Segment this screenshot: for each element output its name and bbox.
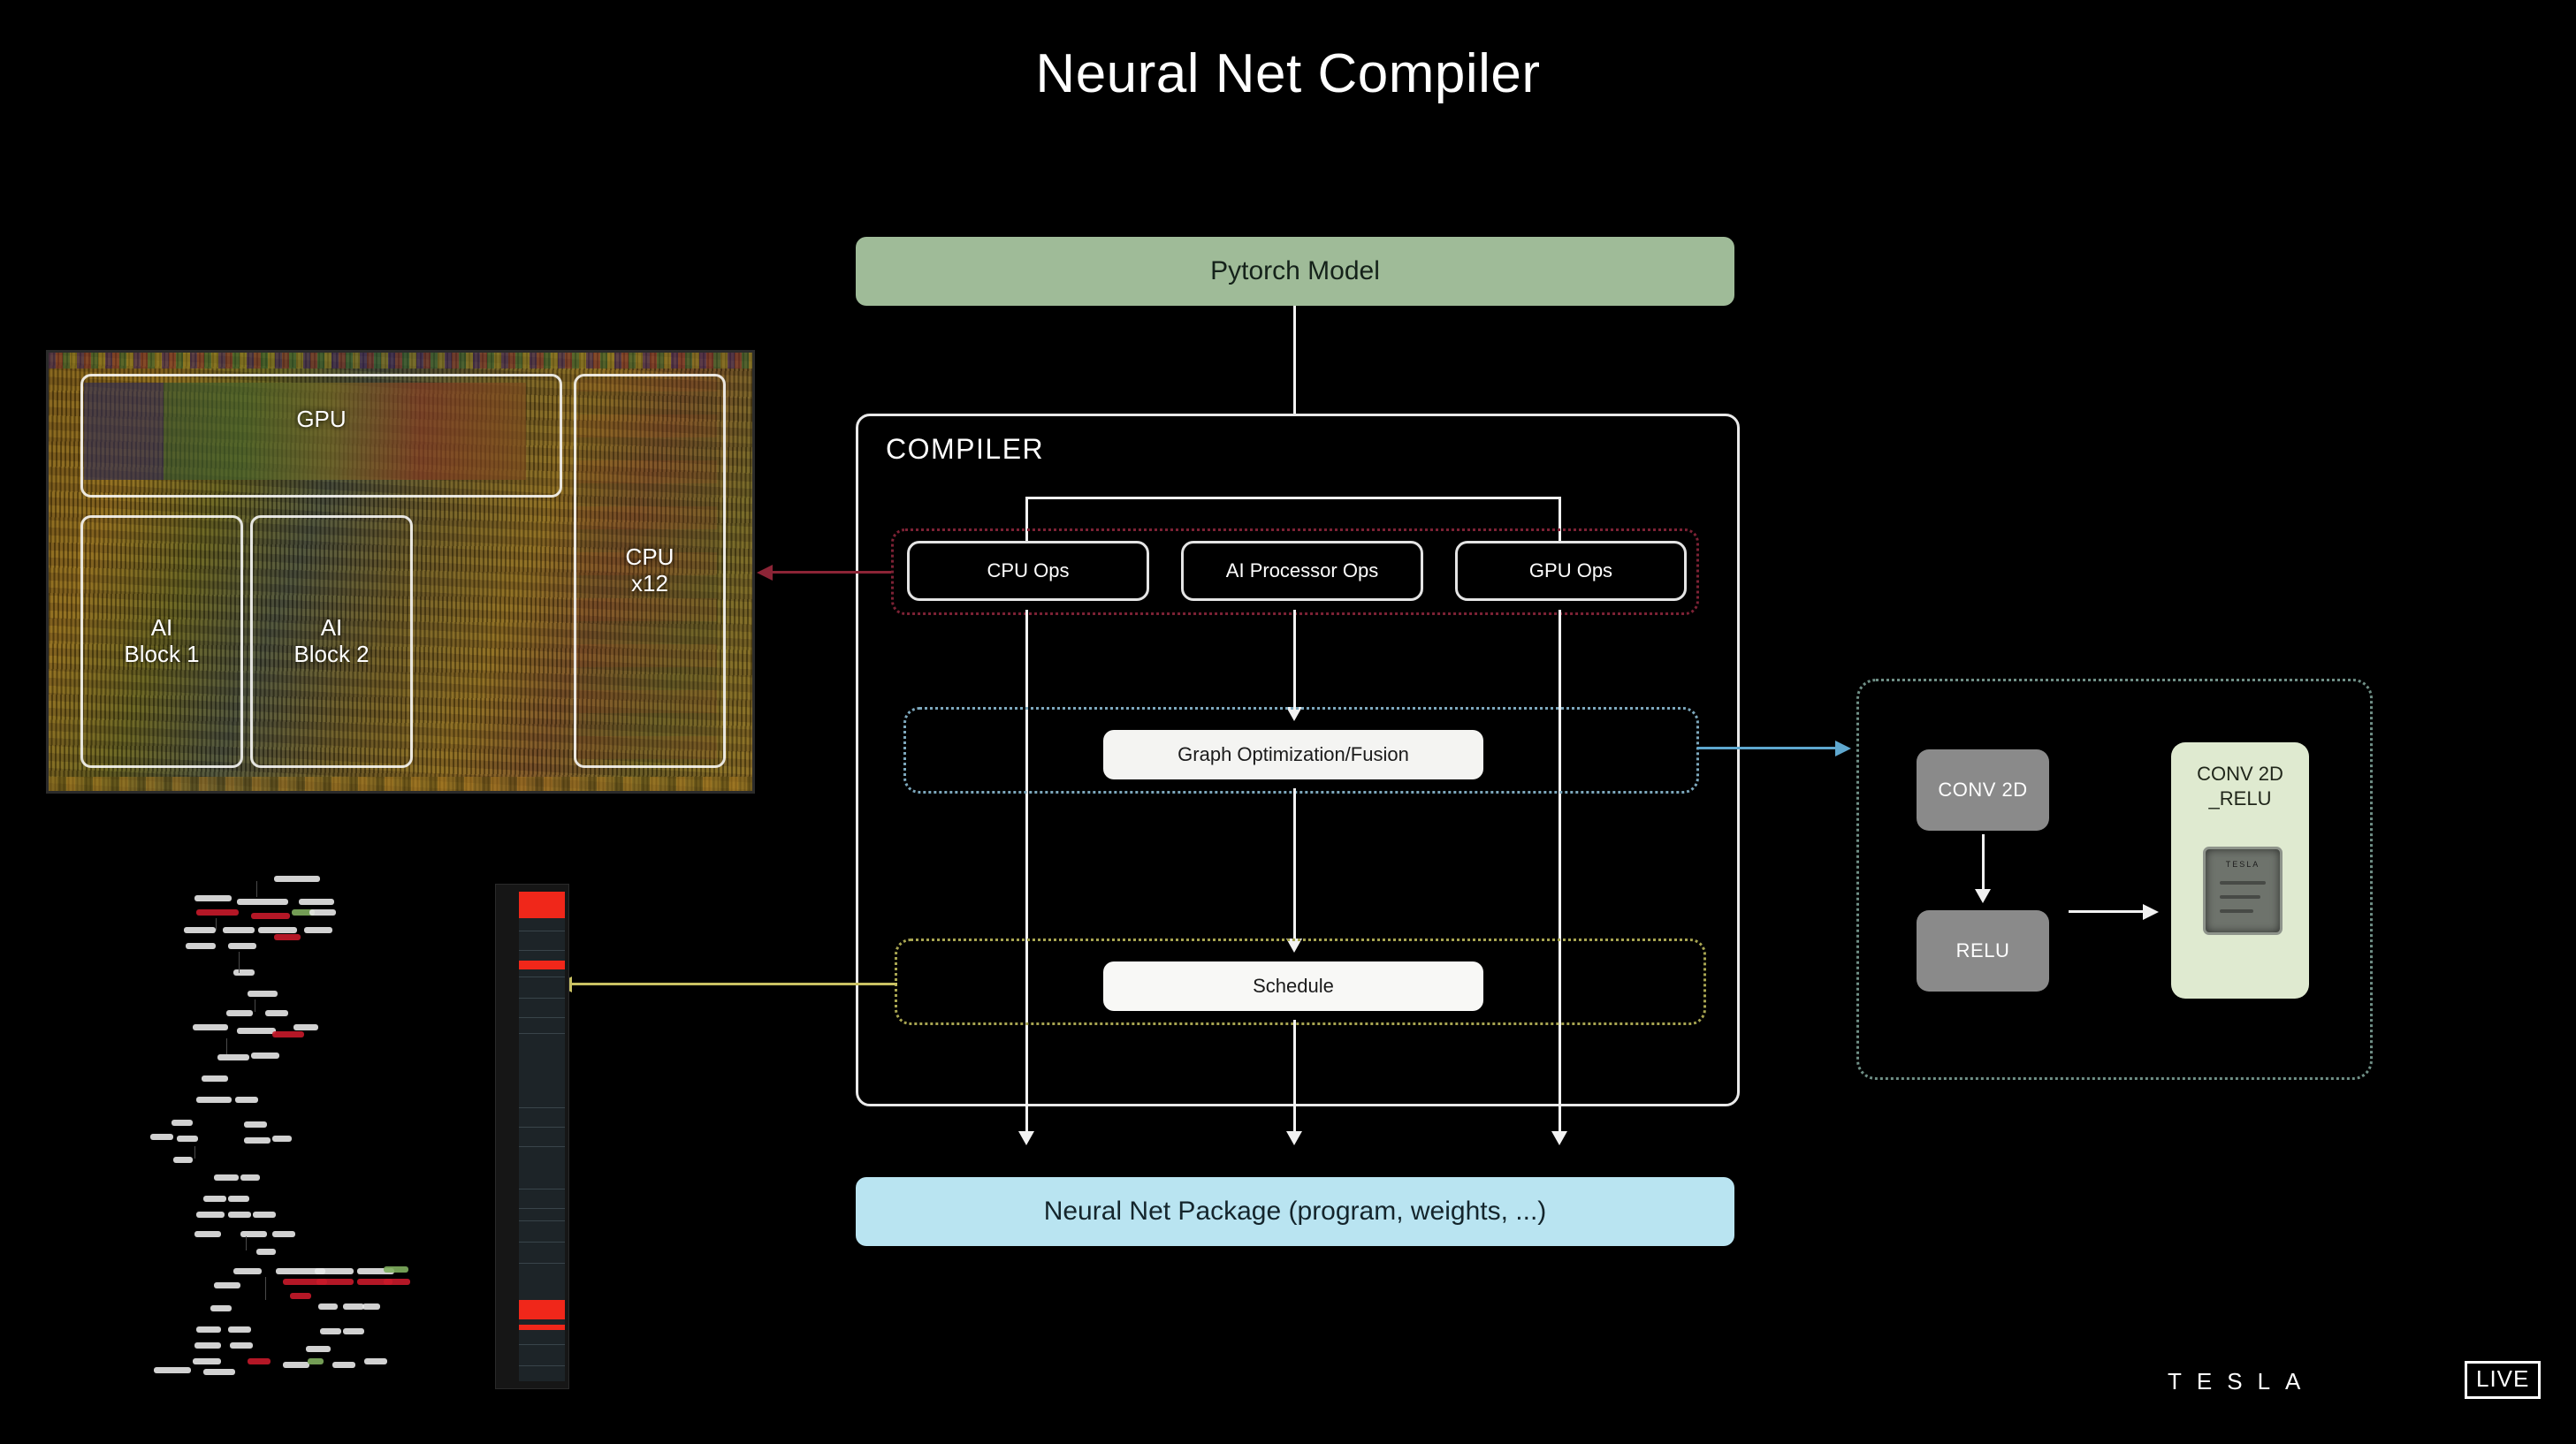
op-node-gpu-label: GPU Ops: [1529, 559, 1612, 582]
die-photo: GPU AI Block 1 AI Block 2 CPU x12: [46, 350, 755, 794]
op-node-ai-processor[interactable]: AI Processor Ops: [1181, 541, 1423, 601]
die-region-gpu-label: GPU: [296, 407, 346, 433]
connector-ops-to-die: [771, 571, 891, 574]
die-region-ai-block-2: AI Block 2: [250, 515, 413, 768]
sram-occupancy-chart: SRAM: [495, 884, 569, 1389]
op-node-ai-processor-label: AI Processor Ops: [1226, 559, 1378, 582]
arrowhead-cpu-to-package: [1018, 1131, 1034, 1145]
pytorch-model-label: Pytorch Model: [1210, 256, 1380, 286]
connector-ops-to-fused: [2069, 910, 2145, 913]
connector-schedule-to-graph: [570, 983, 897, 985]
connector-schedule-to-package: [1293, 1020, 1296, 1135]
die-region-ai-block-1: AI Block 1: [80, 515, 243, 768]
sram-allocation-block: [519, 961, 565, 969]
schedule-label: Schedule: [1253, 975, 1334, 998]
sram-allocation-block: [519, 892, 565, 918]
arrowhead-ops-to-die: [757, 565, 773, 581]
fusion-source-op-relu-label: RELU: [1956, 939, 2010, 962]
die-region-cpu-label: CPU x12: [626, 544, 674, 597]
page-title: Neural Net Compiler: [0, 42, 2576, 105]
fused-op-label: CONV 2D _RELU: [2171, 762, 2309, 810]
rail-cpu-bypass: [1025, 610, 1028, 1135]
connector-conv2d-to-relu: [1982, 834, 1985, 893]
compiler-title: COMPILER: [886, 433, 1044, 466]
connector-optimization-to-schedule: [1293, 788, 1296, 946]
die-region-ai-block-1-label: AI Block 1: [124, 615, 199, 668]
graph-optimization-label: Graph Optimization/Fusion: [1177, 743, 1409, 766]
connector-ops-to-optimization: [1293, 610, 1296, 714]
fused-op-node: CONV 2D _RELU TESLA: [2171, 742, 2309, 999]
sram-allocation-block: [519, 1300, 565, 1319]
arrowhead-optimization-to-fusion: [1835, 741, 1851, 756]
schedule-node[interactable]: Schedule: [1103, 961, 1483, 1011]
tesla-wordmark: TESLA: [2168, 1368, 2315, 1395]
pytorch-model-node: Pytorch Model: [856, 237, 1734, 306]
sram-track: [519, 892, 565, 1381]
ops-split-bus: [1025, 497, 1561, 499]
fusion-source-op-relu: RELU: [1917, 910, 2049, 992]
live-badge: LIVE: [2465, 1361, 2541, 1399]
die-region-ai-block-2-label: AI Block 2: [293, 615, 369, 668]
sram-allocation-block: [519, 1325, 565, 1330]
die-region-gpu: GPU: [80, 374, 562, 498]
connector-optimization-to-fusion: [1697, 747, 1835, 749]
op-node-gpu[interactable]: GPU Ops: [1455, 541, 1687, 601]
neural-net-package-label: Neural Net Package (program, weights, ..…: [1044, 1197, 1547, 1227]
op-node-cpu[interactable]: CPU Ops: [907, 541, 1149, 601]
neural-net-package-node: Neural Net Package (program, weights, ..…: [856, 1177, 1734, 1246]
fusion-source-op-conv2d: CONV 2D: [1917, 749, 2049, 831]
arrowhead-gpu-to-package: [1551, 1131, 1567, 1145]
rail-gpu-bypass: [1559, 610, 1561, 1135]
die-region-cpu: CPU x12: [574, 374, 726, 768]
tesla-chip-brand-text: TESLA: [2206, 860, 2280, 869]
schedule-graph-visualization: [141, 870, 477, 1383]
arrowhead-conv2d-to-relu: [1975, 889, 1991, 903]
arrowhead-schedule-to-package: [1286, 1131, 1302, 1145]
graph-optimization-node[interactable]: Graph Optimization/Fusion: [1103, 730, 1483, 779]
op-node-cpu-label: CPU Ops: [987, 559, 1070, 582]
fusion-source-op-conv2d-label: CONV 2D: [1938, 779, 2027, 802]
tesla-chip-image: TESLA: [2203, 847, 2283, 935]
arrowhead-ops-to-fused: [2143, 904, 2159, 920]
